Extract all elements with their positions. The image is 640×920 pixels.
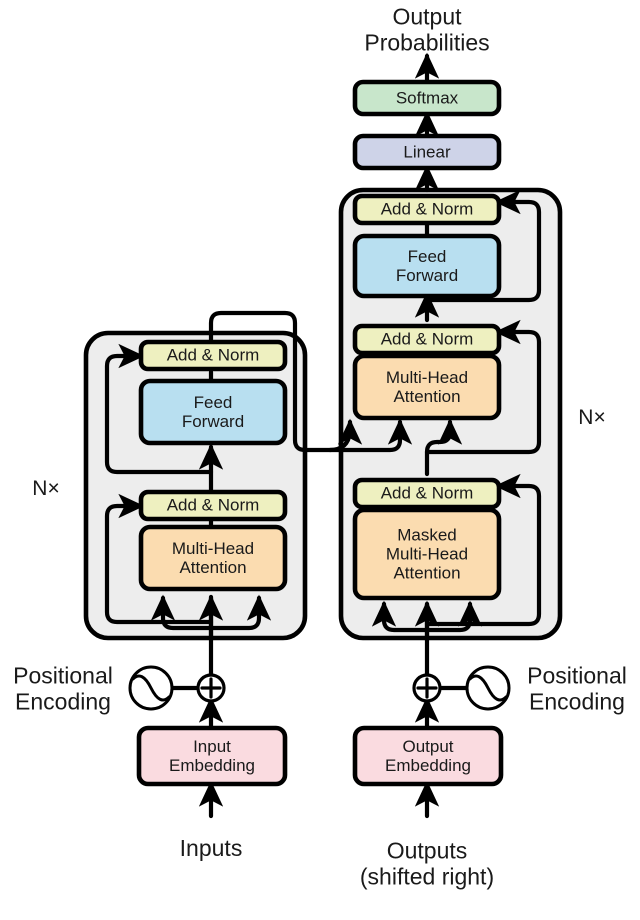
softmax-box[interactable] bbox=[355, 82, 499, 114]
enc-add-norm-1-box[interactable] bbox=[141, 492, 285, 519]
enc-multi-head-attention-box[interactable] bbox=[141, 527, 285, 589]
enc-feed-forward-box[interactable] bbox=[141, 381, 285, 443]
output-embedding-box[interactable] bbox=[355, 728, 501, 784]
diagram-canvas bbox=[0, 0, 640, 920]
dec-masked-multi-head-attention-box[interactable] bbox=[355, 510, 499, 598]
enc-add-norm-2-box[interactable] bbox=[141, 342, 285, 369]
dec-feed-forward-box[interactable] bbox=[355, 236, 499, 296]
input-embedding-box[interactable] bbox=[139, 728, 285, 784]
dec-multi-head-attention-box[interactable] bbox=[355, 356, 499, 418]
dec-add-norm-1-box[interactable] bbox=[355, 480, 499, 507]
transformer-architecture-diagram: Output Probabilities Softmax Linear Add … bbox=[0, 0, 640, 920]
dec-add-norm-3-box[interactable] bbox=[355, 196, 499, 223]
dec-add-norm-2-box[interactable] bbox=[355, 326, 499, 353]
linear-box[interactable] bbox=[355, 136, 499, 168]
